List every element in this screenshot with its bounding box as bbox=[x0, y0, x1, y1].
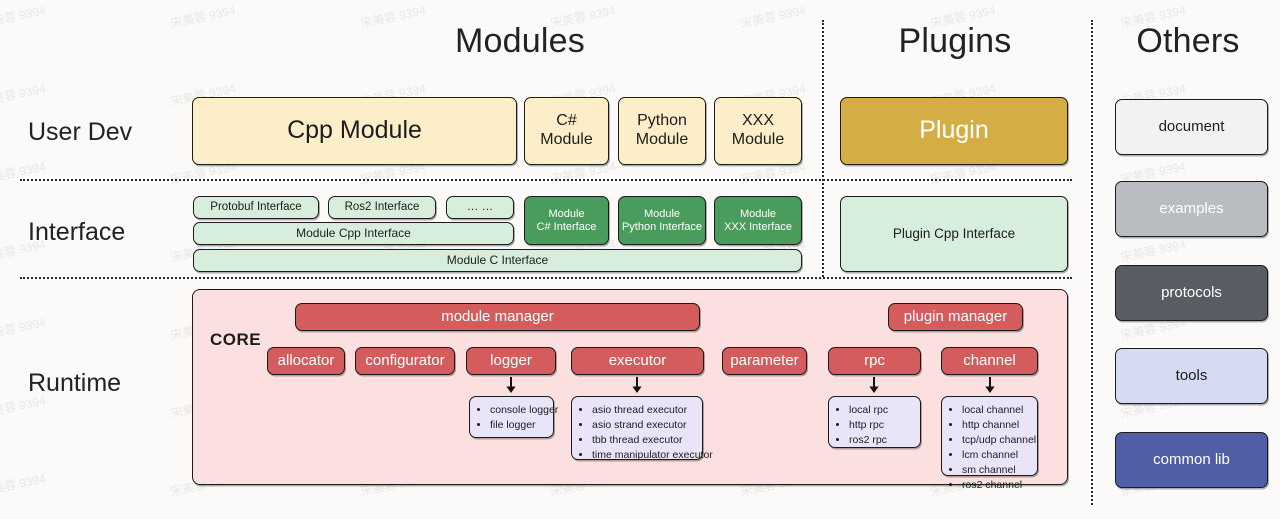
separator-user-dev-interface bbox=[20, 179, 1072, 181]
detail-list-item: tbb thread executor bbox=[592, 433, 696, 448]
arrow-down-icon-rpc bbox=[867, 377, 881, 394]
core-component-allocator[interactable]: allocator bbox=[267, 347, 345, 375]
arrow-down-icon-logger bbox=[504, 377, 518, 394]
watermark-text: 宋美蓉 9394 bbox=[0, 469, 47, 499]
core-plugin-manager[interactable]: plugin manager bbox=[888, 303, 1023, 331]
arrow-down-icon-executor bbox=[630, 377, 644, 394]
core-details-rpc: local rpchttp rpcros2 rpc bbox=[828, 396, 921, 448]
interface-box-ellipsis[interactable]: … … bbox=[446, 196, 514, 219]
watermark-text: 宋美蓉 9394 bbox=[0, 313, 47, 343]
watermark-text: 宋美蓉 9394 bbox=[169, 1, 237, 31]
watermark-text: 宋美蓉 9394 bbox=[0, 157, 47, 187]
core-details-executor: asio thread executorasio strand executor… bbox=[571, 396, 703, 460]
detail-list-item: lcm channel bbox=[962, 448, 1031, 463]
row-label-user-dev: User Dev bbox=[28, 118, 132, 147]
interface-box-module-c[interactable]: Module C Interface bbox=[193, 249, 802, 272]
detail-list-item: asio thread executor bbox=[592, 403, 696, 418]
interface-box-module-csharp[interactable]: Module C# Interface bbox=[524, 196, 609, 245]
module-box-python[interactable]: Python Module bbox=[618, 97, 706, 165]
detail-list-item: ros2 rpc bbox=[849, 433, 914, 448]
interface-box-plugin-cpp[interactable]: Plugin Cpp Interface bbox=[840, 196, 1068, 272]
core-module-manager[interactable]: module manager bbox=[295, 303, 700, 331]
interface-box-module-cpp[interactable]: Module Cpp Interface bbox=[193, 222, 514, 245]
module-box-csharp[interactable]: C# Module bbox=[524, 97, 609, 165]
others-item-examples[interactable]: examples bbox=[1115, 181, 1268, 237]
detail-list-item: local channel bbox=[962, 403, 1031, 418]
others-item-tools[interactable]: tools bbox=[1115, 348, 1268, 404]
detail-list-item: tcp/udp channel bbox=[962, 433, 1031, 448]
core-component-logger[interactable]: logger bbox=[466, 347, 556, 375]
detail-list-item: local rpc bbox=[849, 403, 914, 418]
plugin-box[interactable]: Plugin bbox=[840, 97, 1068, 165]
row-label-runtime: Runtime bbox=[28, 369, 121, 398]
separator-plugins-others bbox=[1091, 20, 1093, 505]
detail-list-item: console logger bbox=[490, 403, 547, 418]
core-component-channel[interactable]: channel bbox=[941, 347, 1038, 375]
detail-list-item: file logger bbox=[490, 418, 547, 433]
core-component-configurator[interactable]: configurator bbox=[355, 347, 455, 375]
arrow-down-icon-channel bbox=[983, 377, 997, 394]
detail-list-item: ros2 channel bbox=[962, 478, 1031, 493]
module-box-xxx[interactable]: XXX Module bbox=[714, 97, 802, 165]
architecture-diagram: 宋美蓉 9394宋美蓉 9394宋美蓉 9394宋美蓉 9394宋美蓉 9394… bbox=[0, 0, 1280, 519]
detail-list-item: asio strand executor bbox=[592, 418, 696, 433]
core-component-executor[interactable]: executor bbox=[571, 347, 704, 375]
separator-modules-plugins bbox=[822, 20, 824, 277]
core-component-rpc[interactable]: rpc bbox=[828, 347, 921, 375]
others-item-common-lib[interactable]: common lib bbox=[1115, 432, 1268, 488]
separator-interface-runtime bbox=[20, 277, 1072, 279]
interface-box-ros2[interactable]: Ros2 Interface bbox=[328, 196, 436, 219]
core-details-logger: console loggerfile logger bbox=[469, 396, 554, 438]
row-label-interface: Interface bbox=[28, 218, 125, 247]
column-header-plugins: Plugins bbox=[830, 22, 1080, 61]
interface-box-module-python[interactable]: Module Python Interface bbox=[618, 196, 706, 245]
watermark-text: 宋美蓉 9394 bbox=[739, 1, 807, 31]
watermark-text: 宋美蓉 9394 bbox=[0, 1, 47, 31]
detail-list-item: http rpc bbox=[849, 418, 914, 433]
core-component-parameter[interactable]: parameter bbox=[722, 347, 807, 375]
others-item-protocols[interactable]: protocols bbox=[1115, 265, 1268, 321]
watermark-text: 宋美蓉 9394 bbox=[1119, 235, 1187, 265]
detail-list-item: sm channel bbox=[962, 463, 1031, 478]
core-label: CORE bbox=[210, 330, 261, 350]
others-item-document[interactable]: document bbox=[1115, 99, 1268, 155]
module-box-cpp[interactable]: Cpp Module bbox=[192, 97, 517, 165]
interface-box-protobuf[interactable]: Protobuf Interface bbox=[193, 196, 319, 219]
interface-box-module-xxx[interactable]: Module XXX Interface bbox=[714, 196, 802, 245]
detail-list-item: time manipulator executor bbox=[592, 448, 696, 463]
column-header-modules: Modules bbox=[370, 22, 670, 61]
column-header-others: Others bbox=[1098, 22, 1278, 61]
core-details-channel: local channelhttp channeltcp/udp channel… bbox=[941, 396, 1038, 476]
detail-list-item: http channel bbox=[962, 418, 1031, 433]
watermark-text: 宋美蓉 9394 bbox=[0, 79, 47, 109]
